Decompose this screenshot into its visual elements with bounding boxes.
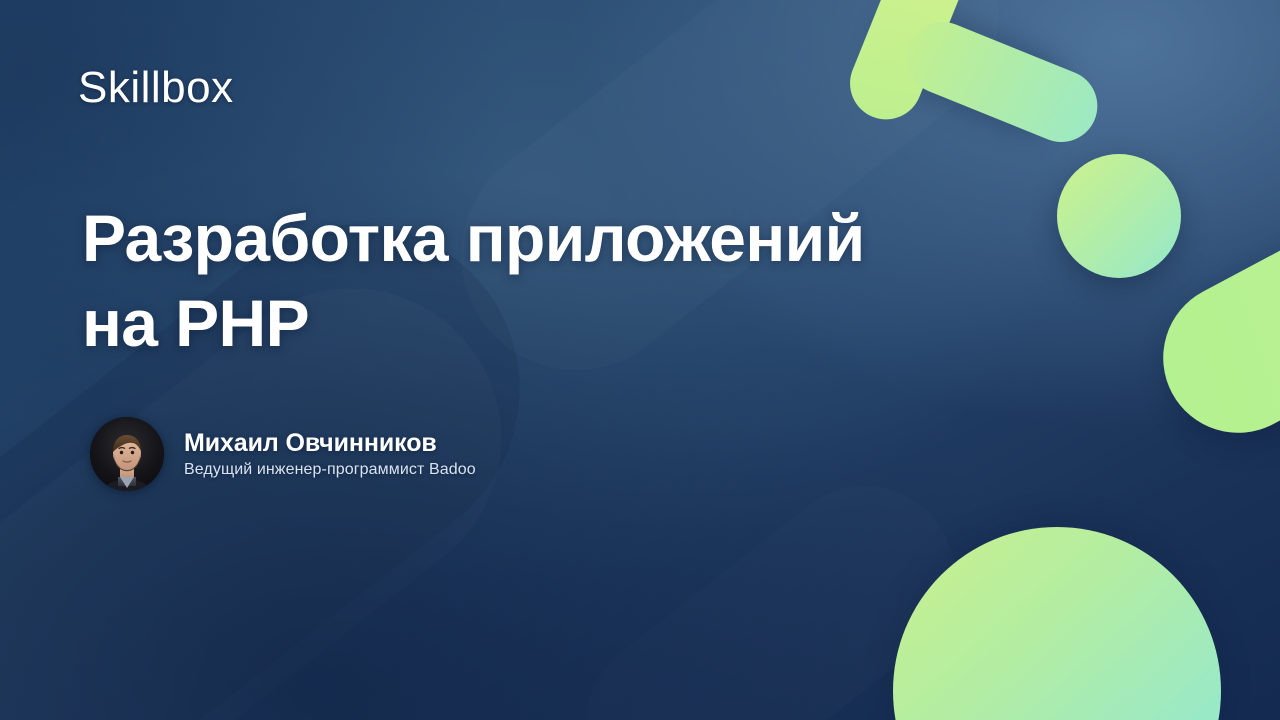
avatar	[90, 417, 164, 491]
presentation-slide: Skillbox Разработка приложенийна PHP	[0, 0, 1280, 720]
slide-title-line-2: на PHP	[82, 286, 309, 360]
brand-logo: Skillbox	[78, 66, 234, 110]
presenter-name: Михаил Овчинников	[184, 428, 476, 458]
circle-medium-shape	[1057, 154, 1181, 278]
presenter-role: Ведущий инженер-программист Badoo	[184, 460, 476, 481]
presenter-block: Михаил Овчинников Ведущий инженер-програ…	[90, 417, 476, 491]
presenter-text: Михаил Овчинников Ведущий инженер-програ…	[184, 428, 476, 481]
slide-title-line-1: Разработка приложений	[82, 201, 865, 275]
chevron-shape-icon	[860, 0, 1090, 130]
avatar-photo-icon	[90, 417, 164, 491]
slide-title: Разработка приложенийна PHP	[82, 196, 982, 366]
